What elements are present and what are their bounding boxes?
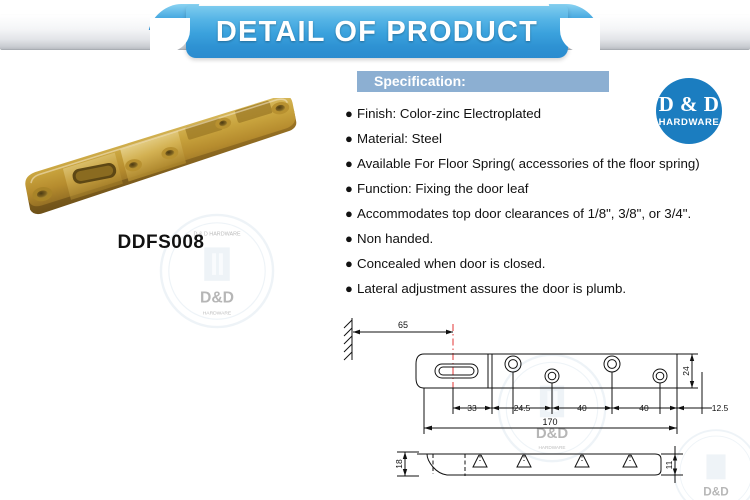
spec-item: ● Accommodates top door clearances of 1/… — [345, 206, 745, 221]
dim-24: 24 — [681, 366, 691, 376]
dim-33: 33 — [467, 403, 477, 413]
dim-40-b: 40 — [639, 403, 649, 413]
specification-header-label: Specification: — [374, 73, 466, 89]
brand-logo-subtitle: HARDWARE — [659, 117, 720, 128]
bullet-icon: ● — [345, 231, 357, 246]
dim-65: 65 — [398, 320, 408, 330]
spec-item-text: Accommodates top door clearances of 1/8"… — [357, 206, 691, 221]
spec-item-text: Concealed when door is closed. — [357, 256, 546, 271]
spec-item-text: Lateral adjustment assures the door is p… — [357, 281, 626, 296]
technical-drawing-side-view: 18 11 — [375, 440, 705, 498]
product-detail-page: DETAIL OF PRODUCT D&D HARDWARE D & D HAR… — [0, 0, 750, 500]
product-model-label: DDFS008 — [6, 232, 316, 254]
brand-logo-name: D & D — [659, 94, 720, 115]
spec-item-text: Non handed. — [357, 231, 433, 246]
dim-40-a: 40 — [577, 403, 587, 413]
bullet-icon: ● — [345, 256, 357, 271]
page-title: DETAIL OF PRODUCT — [186, 6, 568, 58]
svg-text:HARDWARE: HARDWARE — [203, 310, 232, 316]
svg-text:D&D: D&D — [703, 485, 728, 498]
dim-170: 170 — [542, 417, 557, 427]
spec-item: ● Concealed when door is closed. — [345, 256, 745, 271]
svg-text:D&D: D&D — [200, 289, 234, 306]
dim-11: 11 — [664, 460, 674, 469]
bullet-icon: ● — [345, 156, 357, 171]
spec-item-text: Finish: Color-zinc Electroplated — [357, 106, 541, 121]
spec-item: ● Lateral adjustment assures the door is… — [345, 281, 745, 296]
dim-18: 18 — [394, 459, 404, 469]
spec-item-text: Available For Floor Spring( accessories … — [357, 156, 700, 171]
spec-item: ● Function: Fixing the door leaf — [345, 181, 745, 196]
spec-item: ● Non handed. — [345, 231, 745, 246]
brand-logo: D & D HARDWARE — [656, 78, 722, 144]
specification-header: Specification: — [357, 71, 609, 92]
spec-item: ● Available For Floor Spring( accessorie… — [345, 156, 745, 171]
bullet-icon: ● — [345, 206, 357, 221]
spec-item-text: Function: Fixing the door leaf — [357, 181, 528, 196]
spec-item-text: Material: Steel — [357, 131, 442, 146]
bullet-icon: ● — [345, 181, 357, 196]
bullet-icon: ● — [345, 106, 357, 121]
technical-drawing-top-view: 65 33 24.5 40 40 12.5 170 24 — [340, 310, 740, 438]
bullet-icon: ● — [345, 281, 357, 296]
product-photo — [6, 98, 316, 233]
bullet-icon: ● — [345, 131, 357, 146]
dim-12-5: 12.5 — [712, 403, 729, 413]
dim-24-5: 24.5 — [514, 403, 531, 413]
